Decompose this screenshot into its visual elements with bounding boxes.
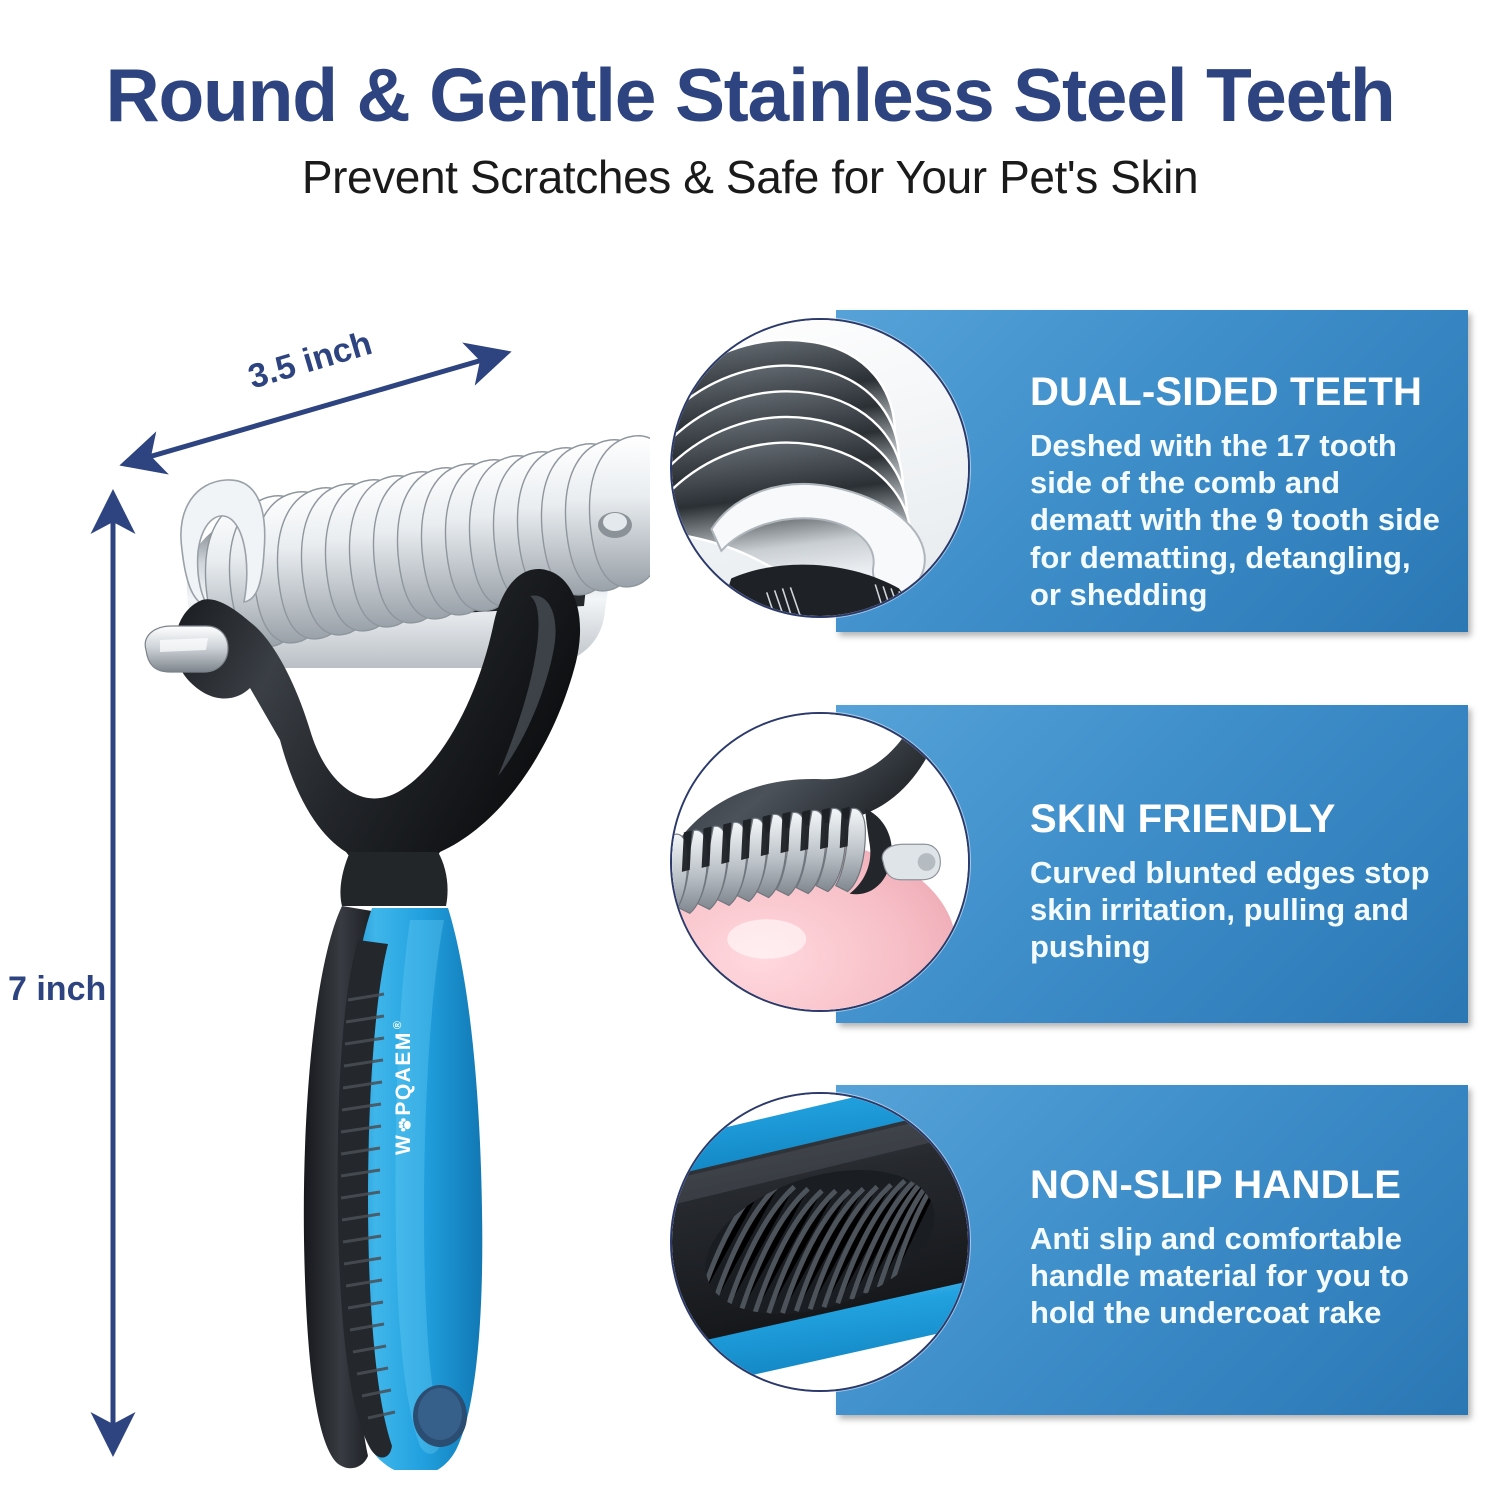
brand-letter-w: W <box>392 1134 416 1155</box>
feature-image-rake-on-pink-skin-closeup <box>670 712 970 1012</box>
height-dimension-label: 7 inch <box>8 970 106 1009</box>
screw-rivet-right <box>598 512 632 538</box>
feature-text-block: SKIN FRIENDLY Curved blunted edges stop … <box>1030 797 1446 966</box>
product-hero-image <box>110 400 670 1470</box>
feature-heading: DUAL-SIDED TEETH <box>1030 370 1446 415</box>
page-subtitle: Prevent Scratches & Safe for Your Pet's … <box>0 150 1500 204</box>
screw-rivet <box>145 626 228 672</box>
feature-image-stainless-steel-teeth-closeup <box>670 318 970 618</box>
feature-heading: NON-SLIP HANDLE <box>1030 1163 1446 1208</box>
feature-body: Anti slip and comfortable handle materia… <box>1030 1220 1446 1332</box>
brand-letters-rest: PQAEM <box>392 1031 416 1116</box>
feature-text-block: DUAL-SIDED TEETH Deshed with the 17 toot… <box>1030 370 1446 613</box>
brand-logo: W PQAEM ® <box>392 1020 416 1155</box>
feature-heading: SKIN FRIENDLY <box>1030 797 1446 842</box>
paw-print-icon <box>395 1117 411 1133</box>
page-title: Round & Gentle Stainless Steel Teeth <box>0 52 1500 138</box>
feature-image-handle-grip-texture-closeup <box>670 1092 970 1392</box>
width-dimension-label: 3.5 inch <box>244 324 376 397</box>
registered-trademark-icon: ® <box>392 1020 404 1030</box>
feature-text-block: NON-SLIP HANDLE Anti slip and comfortabl… <box>1030 1163 1446 1332</box>
infographic-page: Round & Gentle Stainless Steel Teeth Pre… <box>0 0 1500 1500</box>
product-handle <box>304 906 482 1470</box>
feature-body: Deshed with the 17 tooth side of the com… <box>1030 427 1446 613</box>
feature-body: Curved blunted edges stop skin irritatio… <box>1030 854 1446 966</box>
